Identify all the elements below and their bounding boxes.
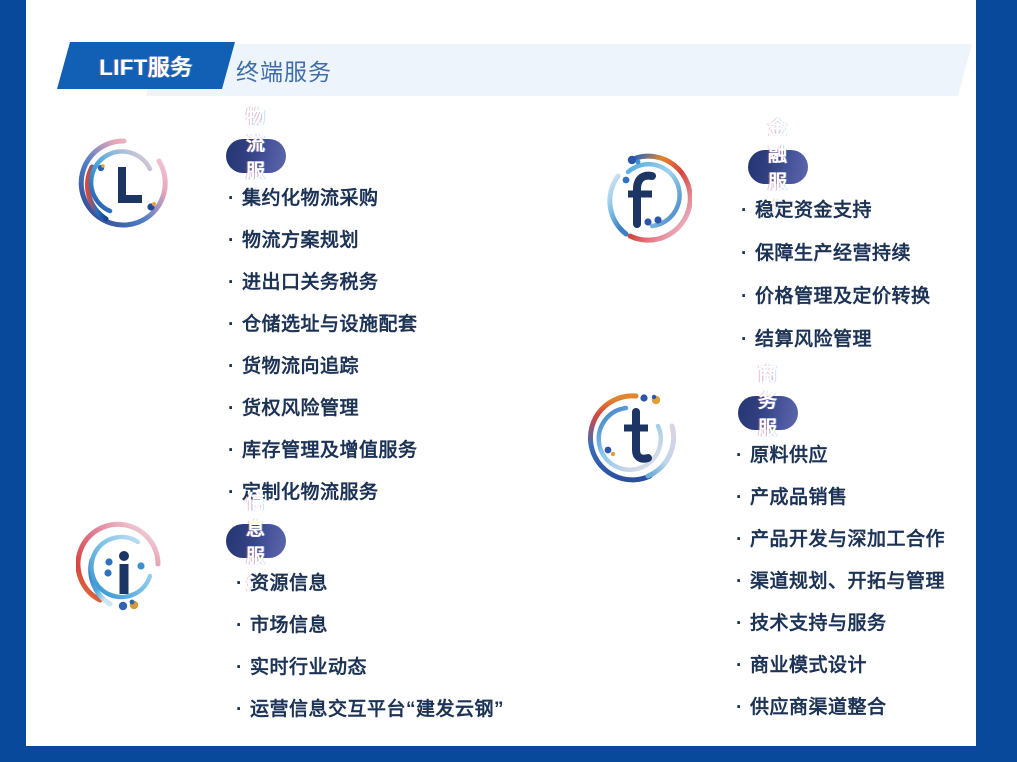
list-item: ·库存管理及增值服务 <box>228 435 418 462</box>
header-banner-label: LIFT服务 <box>57 42 235 89</box>
bullet-icon: · <box>741 201 755 220</box>
list-item-label: 仓储选址与设施配套 <box>242 309 418 336</box>
list-item: ·原料供应 <box>736 440 945 467</box>
list-item-label: 实时行业动态 <box>250 652 367 679</box>
lift-i-ring-icon <box>76 520 172 616</box>
list-item-label: 货权风险管理 <box>242 393 359 420</box>
lift-f-ring-icon <box>596 150 692 246</box>
list-item-label: 市场信息 <box>250 610 328 637</box>
bullet-icon: · <box>228 231 242 250</box>
bullet-icon: · <box>736 656 750 675</box>
list-item-label: 商业模式设计 <box>750 650 867 677</box>
bullet-icon: · <box>236 574 250 593</box>
bullet-icon: · <box>236 700 250 719</box>
page-frame: LIFT服务 终端服务 <box>0 0 1017 762</box>
list-item-label: 价格管理及定价转换 <box>755 281 931 308</box>
bullet-icon: · <box>228 483 242 502</box>
list-item: ·产成品销售 <box>736 482 945 509</box>
list-item: ·集约化物流采购 <box>228 183 418 210</box>
bullet-icon: · <box>228 189 242 208</box>
information-item-list: ·资源信息 ·市场信息 ·实时行业动态 ·运营信息交互平台“建发云钢” <box>236 568 504 736</box>
bullet-icon: · <box>236 658 250 677</box>
lift-l-ring-icon <box>76 135 172 231</box>
list-item-label: 供应商渠道整合 <box>750 692 887 719</box>
bullet-icon: · <box>736 614 750 633</box>
list-item-label: 结算风险管理 <box>755 324 872 351</box>
bullet-icon: · <box>741 244 755 263</box>
section-title-pill-information: 信息服务 <box>226 524 286 558</box>
list-item: ·结算风险管理 <box>741 324 931 351</box>
list-item: ·保障生产经营持续 <box>741 238 931 265</box>
header: LIFT服务 终端服务 <box>26 0 976 105</box>
list-item: ·商业模式设计 <box>736 650 945 677</box>
bullet-icon: · <box>741 330 755 349</box>
content-card: LIFT服务 终端服务 <box>26 0 976 746</box>
list-item-label: 保障生产经营持续 <box>755 238 911 265</box>
list-item-label: 稳定资金支持 <box>755 195 872 222</box>
list-item: ·实时行业动态 <box>236 652 504 679</box>
logistics-item-list: ·集约化物流采购 ·物流方案规划 ·进出口关务税务 ·仓储选址与设施配套 ·货物… <box>228 183 418 519</box>
header-subtitle: 终端服务 <box>236 44 332 96</box>
list-item: ·市场信息 <box>236 610 504 637</box>
list-item-label: 运营信息交互平台“建发云钢” <box>250 694 504 721</box>
finance-item-list: ·稳定资金支持 ·保障生产经营持续 ·价格管理及定价转换 ·结算风险管理 <box>741 195 931 367</box>
list-item-label: 货物流向追踪 <box>242 351 359 378</box>
bullet-icon: · <box>736 488 750 507</box>
list-item: ·产品开发与深加工合作 <box>736 524 945 551</box>
section-title-pill-finance: 金融服务 <box>748 150 808 184</box>
business-item-list: ·原料供应 ·产成品销售 ·产品开发与深加工合作 ·渠道规划、开拓与管理 ·技术… <box>736 440 945 734</box>
list-item-label: 渠道规划、开拓与管理 <box>750 566 945 593</box>
list-item-label: 集约化物流采购 <box>242 183 379 210</box>
list-item: ·进出口关务税务 <box>228 267 418 294</box>
list-item: ·货物流向追踪 <box>228 351 418 378</box>
section-title-pill-logistics: 物流服务 <box>226 139 286 173</box>
list-item: ·物流方案规划 <box>228 225 418 252</box>
bullet-icon: · <box>228 441 242 460</box>
header-banner: LIFT服务 <box>57 42 235 89</box>
bullet-icon: · <box>228 273 242 292</box>
list-item-label: 技术支持与服务 <box>750 608 887 635</box>
list-item: ·资源信息 <box>236 568 504 595</box>
list-item: ·渠道规划、开拓与管理 <box>736 566 945 593</box>
lift-t-ring-icon <box>586 388 682 484</box>
list-item: ·仓储选址与设施配套 <box>228 309 418 336</box>
list-item-label: 产品开发与深加工合作 <box>750 524 945 551</box>
list-item-label: 资源信息 <box>250 568 328 595</box>
list-item-label: 原料供应 <box>750 440 828 467</box>
bullet-icon: · <box>741 287 755 306</box>
list-item: ·稳定资金支持 <box>741 195 931 222</box>
bullet-icon: · <box>736 572 750 591</box>
list-item-label: 物流方案规划 <box>242 225 359 252</box>
list-item: ·供应商渠道整合 <box>736 692 945 719</box>
bullet-icon: · <box>736 530 750 549</box>
bullet-icon: · <box>236 616 250 635</box>
bullet-icon: · <box>228 399 242 418</box>
list-item-label: 产成品销售 <box>750 482 848 509</box>
bullet-icon: · <box>736 698 750 717</box>
list-item-label: 库存管理及增值服务 <box>242 435 418 462</box>
list-item-label: 进出口关务税务 <box>242 267 379 294</box>
list-item: ·运营信息交互平台“建发云钢” <box>236 694 504 721</box>
bullet-icon: · <box>736 446 750 465</box>
section-title-pill-business: 商务服务 <box>738 396 798 430</box>
list-item: ·价格管理及定价转换 <box>741 281 931 308</box>
list-item: ·货权风险管理 <box>228 393 418 420</box>
list-item: ·技术支持与服务 <box>736 608 945 635</box>
bullet-icon: · <box>228 315 242 334</box>
bullet-icon: · <box>228 357 242 376</box>
